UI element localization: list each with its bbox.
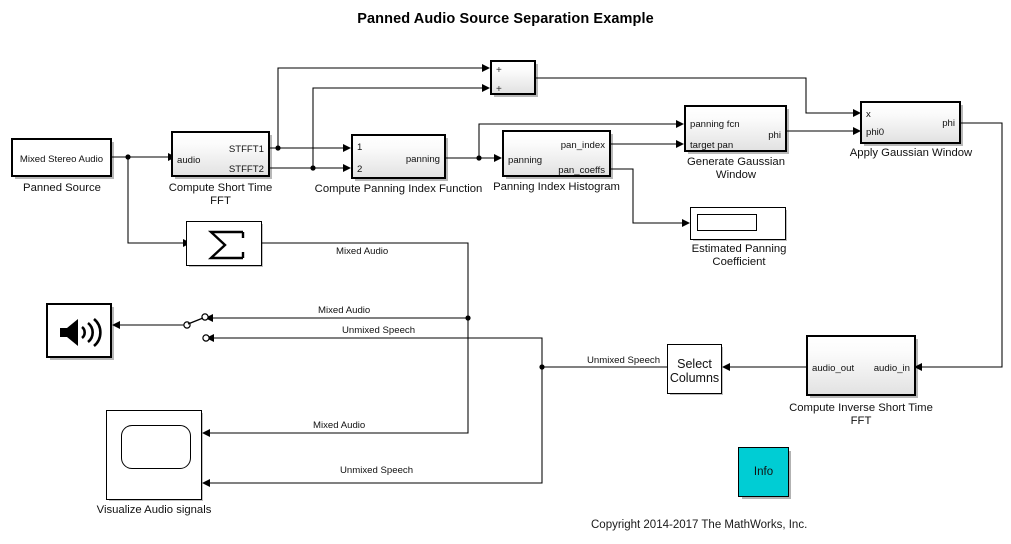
port-in-audio: audio	[177, 156, 200, 166]
block-audio-device-writer[interactable]	[46, 303, 112, 358]
block-select-columns[interactable]: Select Columns	[667, 344, 722, 394]
caption-visualize-audio-signals: Visualize Audio signals	[86, 504, 222, 517]
port-in-panning: panning	[508, 156, 542, 166]
port-out-pan-index: pan_index	[561, 141, 605, 151]
port-in-phi0: phi0	[866, 128, 884, 138]
signal-label-unmixed-speech-scope: Unmixed Speech	[340, 465, 413, 476]
block-visualize-audio-signals[interactable]	[106, 410, 202, 500]
port-in-target-pan: target pan	[690, 141, 733, 151]
sigma-icon	[199, 229, 251, 261]
port-out-panning: panning	[406, 155, 440, 165]
port-out-stfft2: STFFT2	[229, 165, 264, 175]
select-columns-label: Select Columns	[668, 358, 721, 385]
port-in-2: 2	[357, 165, 362, 175]
signal-label-mixed-audio-top: Mixed Audio	[336, 246, 388, 257]
sum-sign-2: +	[496, 84, 502, 95]
port-out-stfft1: STFFT1	[229, 145, 264, 155]
caption-panning-index-histogram: Panning Index Histogram	[486, 181, 627, 194]
sum-sign-1: +	[496, 65, 502, 76]
scope-screen	[121, 425, 191, 469]
caption-apply-gaussian-window: Apply Gaussian Window	[841, 147, 981, 160]
block-info[interactable]: Info	[738, 447, 789, 497]
block-generate-gaussian-window[interactable]: panning fcn target pan phi	[684, 105, 787, 152]
signal-label-mixed-audio-scope: Mixed Audio	[313, 420, 365, 431]
block-sum-elements[interactable]	[186, 221, 262, 266]
block-compute-short-time-fft[interactable]: audio STFFT1 STFFT2	[171, 131, 270, 177]
display-value-field	[697, 214, 757, 231]
block-apply-gaussian-window[interactable]: x phi0 phi	[860, 101, 961, 144]
block-compute-inverse-short-time-fft[interactable]: audio_out audio_in	[806, 335, 916, 396]
caption-compute-inverse-short-time-fft: Compute Inverse Short Time FFT	[786, 402, 936, 427]
port-out-pan-coeffs: pan_coeffs	[558, 166, 605, 176]
block-estimated-panning-coefficient[interactable]	[690, 207, 786, 240]
port-out-phi: phi	[942, 119, 955, 129]
block-sum[interactable]: + +	[490, 60, 536, 95]
signal-label-unmixed-speech-switch: Unmixed Speech	[342, 325, 415, 336]
caption-compute-panning-index-function: Compute Panning Index Function	[311, 183, 486, 196]
copyright-text: Copyright 2014-2017 The MathWorks, Inc.	[591, 519, 807, 531]
port-in-x: x	[866, 110, 871, 120]
caption-compute-short-time-fft: Compute Short Time FFT	[160, 182, 281, 207]
speaker-icon	[57, 316, 105, 349]
info-label: Info	[754, 466, 773, 478]
block-panning-index-histogram[interactable]: panning pan_index pan_coeffs	[502, 130, 611, 177]
block-panned-source[interactable]: Mixed Stereo Audio	[11, 138, 112, 177]
caption-panned-source: Panned Source	[0, 182, 124, 195]
port-out-phi: phi	[768, 131, 781, 141]
simulink-canvas: Panned Audio Source Separation Example	[0, 0, 1011, 544]
panned-source-label: Mixed Stereo Audio	[13, 154, 110, 165]
signal-label-unmixed-speech-select: Unmixed Speech	[587, 355, 660, 366]
caption-generate-gaussian-window: Generate Gaussian Window	[666, 156, 806, 181]
block-compute-panning-index-function[interactable]: 1 2 panning	[351, 134, 446, 179]
signal-label-mixed-audio-switch: Mixed Audio	[318, 305, 370, 316]
port-in-audio-in: audio_in	[874, 364, 910, 374]
port-in-panning-fcn: panning fcn	[690, 120, 740, 130]
caption-estimated-panning-coefficient: Estimated Panning Coefficient	[664, 243, 814, 268]
port-out-audio-out: audio_out	[812, 364, 854, 374]
port-in-1: 1	[357, 143, 362, 153]
